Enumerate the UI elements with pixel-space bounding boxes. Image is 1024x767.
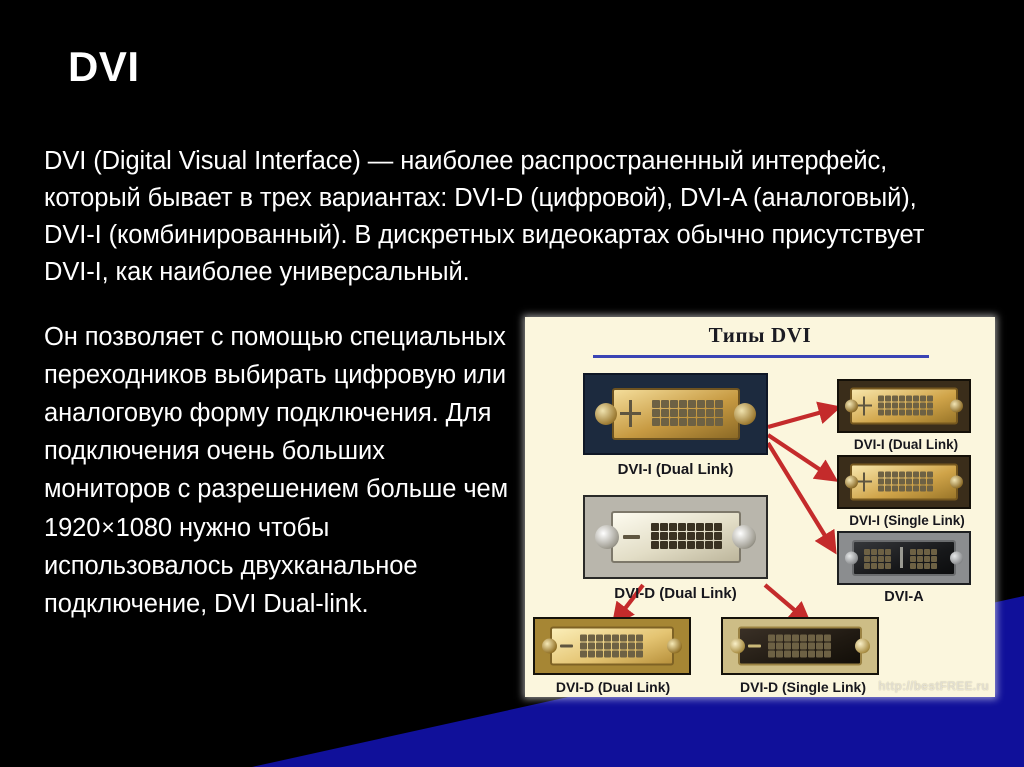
connector-plate bbox=[852, 540, 956, 576]
label-dvi-d-dual-link-main: DVI-D (Dual Link) bbox=[583, 585, 768, 602]
label-dvi-i-single-link: DVI-I (Single Link) bbox=[825, 513, 989, 528]
digital-pin-grid bbox=[652, 400, 723, 426]
connector-dvi-d-single-link bbox=[721, 617, 879, 675]
thumbscrew-left bbox=[845, 476, 858, 489]
resolution-height: 1080 bbox=[116, 514, 172, 542]
source-watermark: http://bestFREE.ru bbox=[878, 679, 989, 693]
resolution-width: 1920 bbox=[44, 514, 100, 542]
thumbscrew-left bbox=[595, 403, 617, 425]
analog-cross-horizontal bbox=[857, 405, 872, 407]
panel-title-rule bbox=[593, 355, 929, 358]
panel-title: Типы DVI bbox=[525, 323, 995, 348]
analog-blade-slot bbox=[748, 645, 761, 648]
paragraph-details: Он позволяет с помощью специальных перех… bbox=[44, 318, 514, 623]
thumbscrew-right bbox=[950, 552, 963, 565]
thumbscrew-right bbox=[950, 400, 963, 413]
label-dvi-a: DVI-A bbox=[837, 589, 971, 605]
thumbscrew-left bbox=[595, 525, 619, 549]
thumbscrew-right bbox=[855, 639, 870, 654]
connector-dvi-d-dual-link-bottom bbox=[533, 617, 691, 675]
digital-pin-grid bbox=[878, 472, 933, 492]
analog-cross-horizontal bbox=[620, 412, 641, 415]
thumbscrew-right bbox=[667, 639, 682, 654]
connector-plate bbox=[612, 388, 740, 440]
thumbscrew-left bbox=[542, 639, 557, 654]
analog-pin-grid-left bbox=[864, 549, 891, 569]
thumbscrew-left bbox=[845, 552, 858, 565]
thumbscrew-left bbox=[730, 639, 745, 654]
connector-plate bbox=[850, 388, 958, 425]
digital-pin-grid bbox=[580, 635, 643, 658]
paragraph-intro: DVI (Digital Visual Interface) — наиболе… bbox=[44, 143, 964, 291]
digital-pin-grid bbox=[651, 523, 722, 549]
thumbscrew-right bbox=[950, 476, 963, 489]
page-title: DVI bbox=[68, 44, 140, 90]
thumbscrew-right bbox=[732, 525, 756, 549]
multiplication-sign: × bbox=[100, 514, 115, 540]
connector-plate bbox=[850, 464, 958, 501]
digital-pin-grid bbox=[878, 396, 933, 416]
analog-cross-horizontal bbox=[857, 481, 872, 483]
connector-plate bbox=[738, 627, 862, 666]
label-dvi-d-single-link: DVI-D (Single Link) bbox=[713, 679, 893, 695]
analog-blade-slot bbox=[560, 645, 573, 648]
connector-dvi-i-single-link bbox=[837, 455, 971, 509]
paragraph-details-part1: Он позволяет с помощью специальных перех… bbox=[44, 323, 508, 503]
connector-plate bbox=[550, 627, 674, 666]
label-dvi-i-dual-link-small: DVI-I (Dual Link) bbox=[831, 437, 981, 452]
connector-dvi-i-dual-link bbox=[583, 373, 768, 455]
analog-pin-grid-right bbox=[910, 549, 937, 569]
connector-plate bbox=[611, 511, 741, 563]
thumbscrew-left bbox=[845, 400, 858, 413]
connector-dvi-i-dual-link-small bbox=[837, 379, 971, 433]
analog-blade-slot bbox=[623, 535, 640, 539]
analog-cross-vertical bbox=[900, 547, 903, 568]
thumbscrew-right bbox=[734, 403, 756, 425]
presentation-slide: DVI DVI (Digital Visual Interface) — наи… bbox=[0, 0, 1024, 767]
connector-dvi-d-dual-link bbox=[583, 495, 768, 579]
connector-dvi-a bbox=[837, 531, 971, 585]
label-dvi-i-dual-link: DVI-I (Dual Link) bbox=[583, 461, 768, 478]
digital-pin-grid bbox=[768, 635, 831, 658]
dvi-types-diagram-panel: Типы DVI bbox=[525, 317, 995, 697]
label-dvi-d-dual-link-bottom: DVI-D (Dual Link) bbox=[527, 679, 699, 695]
